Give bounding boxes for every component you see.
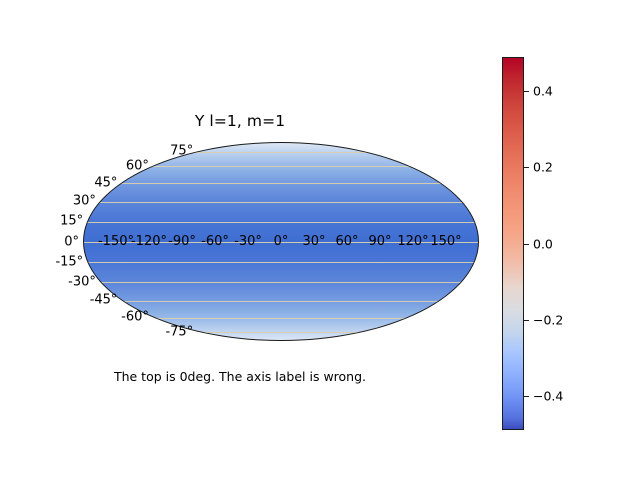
latitude-tick-label: -45° — [0, 293, 117, 308]
longitude-tick-label: 150° — [421, 234, 471, 249]
latitude-tick-label: 30° — [0, 194, 96, 209]
colorbar-tick — [524, 396, 529, 397]
colorbar-tick — [524, 167, 529, 168]
latitude-tick-label: 60° — [0, 158, 149, 173]
colorbar-tick-label: −0.4 — [533, 388, 563, 403]
colorbar-tick-label: 0.0 — [533, 236, 553, 251]
colorbar-tick-label: −0.2 — [533, 312, 563, 327]
latitude-tick-label: 75° — [0, 144, 193, 159]
colorbar-gradient — [502, 57, 524, 430]
latitude-tick-label: 0° — [0, 234, 79, 249]
latitude-tick-label: -30° — [0, 274, 96, 289]
colorbar-tick — [524, 244, 529, 245]
colorbar-tick-label: 0.2 — [533, 160, 553, 175]
latitude-tick-label: -60° — [0, 310, 149, 325]
latitude-tick-label: 45° — [0, 175, 117, 190]
colorbar-tick-label: 0.4 — [533, 84, 553, 99]
latitude-tick-label: -75° — [0, 324, 193, 339]
figure-caption: The top is 0deg. The axis label is wrong… — [0, 369, 480, 384]
page-title: Y l=1, m=1 — [0, 112, 480, 130]
latitude-tick-label: 15° — [0, 214, 83, 229]
colorbar: 0.40.20.0−0.2−0.4 — [502, 57, 524, 430]
latitude-tick-label: -15° — [0, 254, 83, 269]
colorbar-tick — [524, 91, 529, 92]
colorbar-tick — [524, 320, 529, 321]
matplotlib-figure: Y l=1, m=1 75°60°45°30°15°0°-15°-30°-45°… — [0, 0, 640, 480]
